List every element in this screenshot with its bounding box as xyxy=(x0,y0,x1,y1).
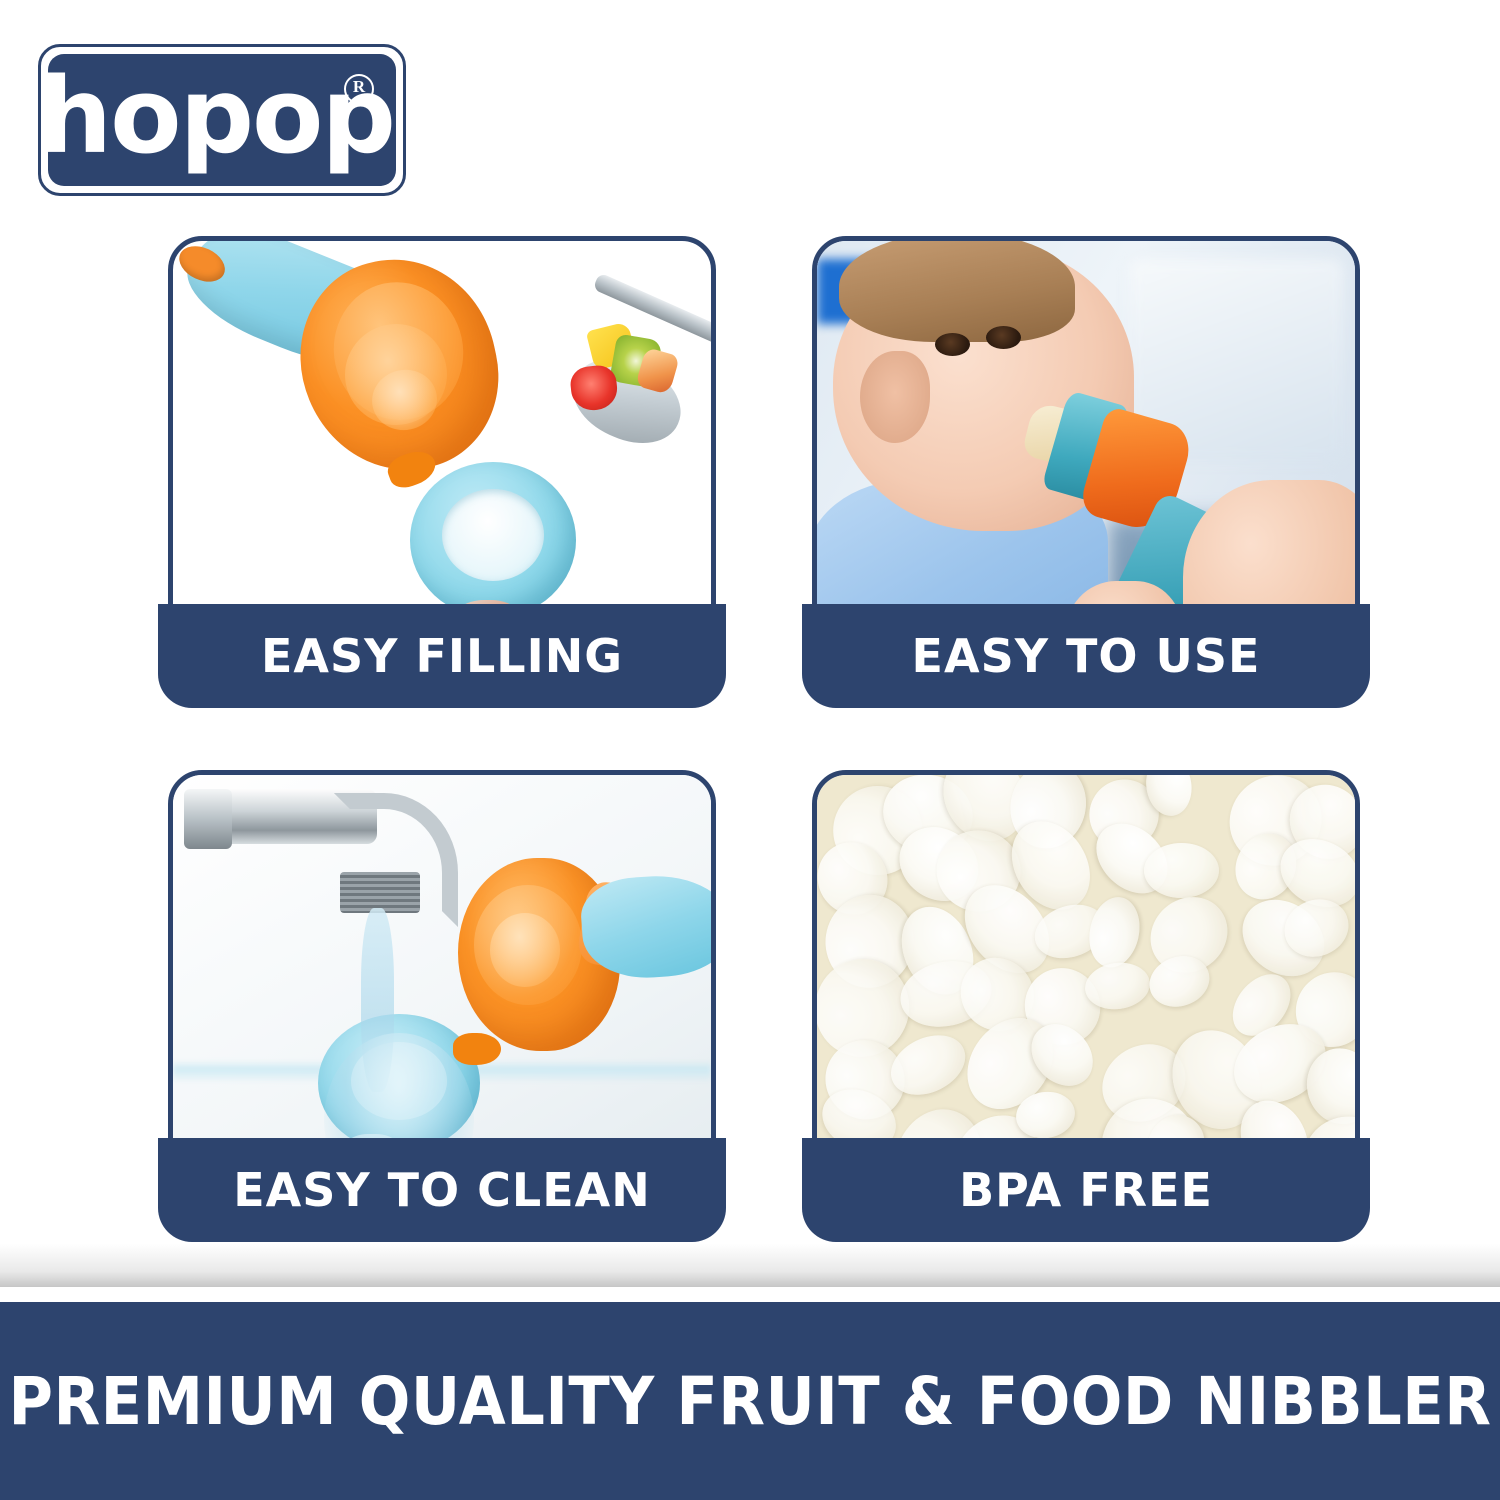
cap-ridge-2 xyxy=(490,913,560,987)
logo-wordmark: hopop xyxy=(38,64,394,168)
product-ring-opening xyxy=(442,489,544,581)
feature-card-easy-to-use: EASY TO USE xyxy=(812,236,1360,706)
feature-caption-label: BPA FREE xyxy=(959,1163,1213,1217)
baby-ear xyxy=(860,351,930,443)
feature-caption-label: EASY TO USE xyxy=(912,629,1261,683)
baby-hair xyxy=(839,236,1076,342)
feature-caption-bpa-free: BPA FREE xyxy=(802,1138,1370,1242)
feature-card-easy-to-clean: EASY TO CLEAN xyxy=(168,770,716,1240)
feature-caption-label: EASY TO CLEAN xyxy=(233,1163,651,1217)
faucet-nut xyxy=(184,789,232,849)
product-hinge xyxy=(453,1033,501,1065)
logo-plate: hopop R xyxy=(48,54,396,186)
faucet-aerator xyxy=(340,872,421,913)
feature-grid: EASY FILLING xyxy=(168,236,1360,1266)
brand-logo: hopop R xyxy=(38,44,406,196)
banner-headline: PREMIUM QUALITY FRUIT & FOOD NIBBLER xyxy=(9,1363,1492,1440)
feature-caption-label: EASY FILLING xyxy=(261,629,623,683)
feature-caption-easy-to-clean: EASY TO CLEAN xyxy=(158,1138,726,1242)
plastic-pellet xyxy=(1144,842,1219,897)
feature-caption-easy-to-use: EASY TO USE xyxy=(802,604,1370,708)
registered-trademark-icon: R xyxy=(344,74,374,104)
feature-card-easy-filling: EASY FILLING xyxy=(168,236,716,706)
feature-card-bpa-free: BPA FREE xyxy=(812,770,1360,1240)
feature-caption-easy-filling: EASY FILLING xyxy=(158,604,726,708)
bottom-banner: PREMIUM QUALITY FRUIT & FOOD NIBBLER xyxy=(0,1302,1500,1500)
spoon xyxy=(528,296,716,480)
